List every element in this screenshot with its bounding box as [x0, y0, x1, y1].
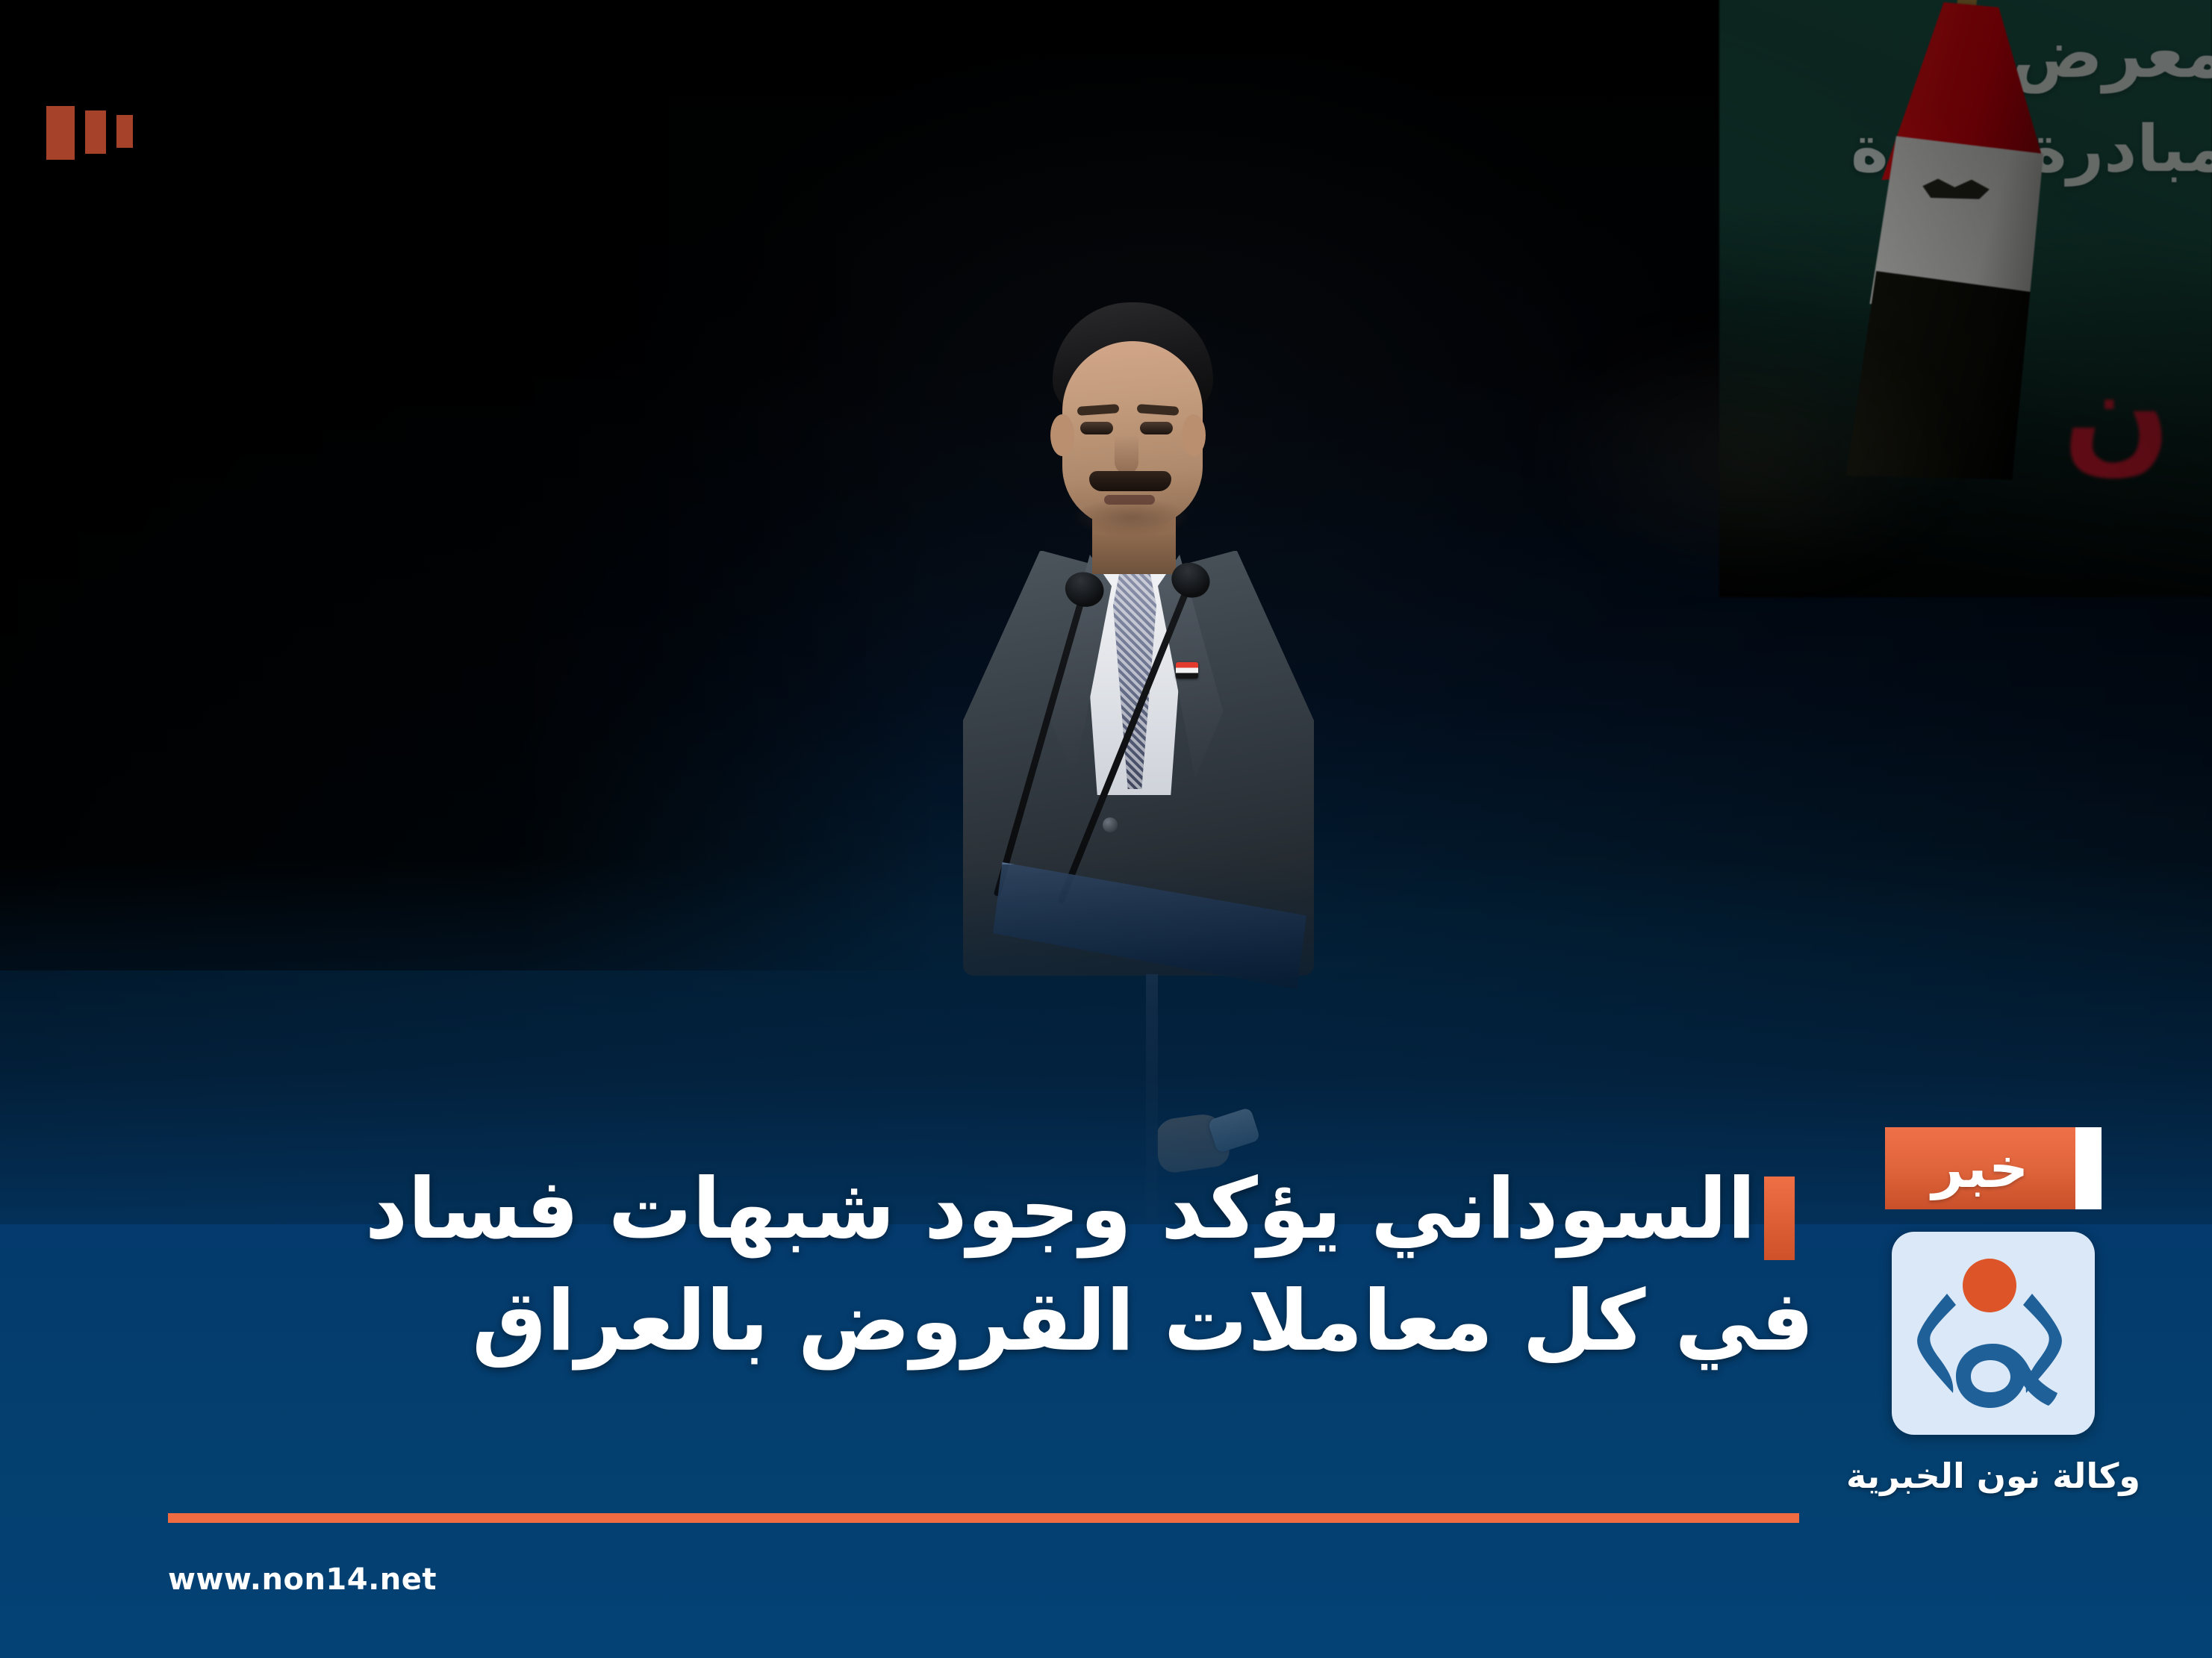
website-url[interactable]: www.non14.net — [168, 1562, 437, 1597]
watermark-bar-3 — [116, 115, 133, 148]
photo-left-shade — [0, 0, 941, 970]
watermark-bar-2 — [85, 110, 106, 154]
news-card: معرض مبادرة ريادة ن — [0, 0, 2212, 1658]
badge-white-tab — [2075, 1127, 2102, 1209]
agency-name: وكالة نون الخبرية — [1833, 1456, 2154, 1496]
agency-logo-icon — [1892, 1232, 2095, 1435]
speaker-eye-left — [1080, 422, 1113, 434]
status-badge: خبر — [1885, 1127, 2102, 1209]
footer-divider — [168, 1513, 1799, 1523]
watermark-bar-1 — [46, 106, 75, 160]
watermark-bars-icon — [46, 106, 133, 160]
speaker-eye-right — [1140, 422, 1173, 434]
speaker-mustache — [1089, 471, 1171, 491]
speaker-jacket-button — [1103, 817, 1118, 832]
speaker-nose — [1115, 435, 1138, 474]
headline-line-2: في كل معاملات القروض بالعراق — [202, 1265, 1814, 1377]
speaker-chin-shadow — [1071, 498, 1191, 537]
flag-lapel-pin-icon — [1176, 662, 1198, 679]
badge-label: خبر — [1885, 1127, 2075, 1209]
speaker-ear-left — [1050, 414, 1074, 456]
speaker-ear-right — [1182, 414, 1206, 456]
headline-line-1: السوداني يؤكد وجود شبهات فساد — [202, 1153, 1814, 1265]
brand-block: خبر وكالة نون الخبرية — [1833, 1127, 2154, 1496]
page-title: السوداني يؤكد وجود شبهات فساد في كل معام… — [202, 1153, 1814, 1377]
